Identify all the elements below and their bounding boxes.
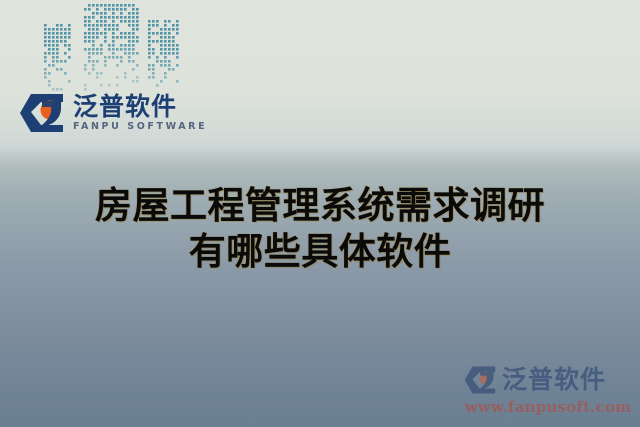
banner-canvas: 泛普软件 FANPU SOFTWARE 房屋工程管理系统需求调研 有哪些具体软件… [0, 0, 640, 427]
pixel-city-skyline-icon [44, 0, 180, 92]
watermark-url: www.fanpusoft.com [464, 398, 632, 416]
fanpu-hexagon-logo-icon [19, 92, 67, 134]
brand-text-block: 泛普软件 FANPU SOFTWARE [73, 94, 207, 133]
brand-name-cn: 泛普软件 [73, 94, 207, 120]
page-title: 房屋工程管理系统需求调研 有哪些具体软件 [0, 183, 640, 275]
title-line-2: 有哪些具体软件 [0, 229, 640, 275]
fanpu-hexagon-logo-icon [464, 365, 498, 395]
watermark: 泛普软件 www.fanpusoft.com [464, 361, 632, 419]
brand-logo: 泛普软件 FANPU SOFTWARE [19, 86, 187, 140]
watermark-name-cn: 泛普软件 [502, 366, 606, 394]
title-line-1: 房屋工程管理系统需求调研 [0, 183, 640, 229]
watermark-logo-row: 泛普软件 [464, 361, 632, 399]
brand-name-en: FANPU SOFTWARE [73, 121, 207, 133]
